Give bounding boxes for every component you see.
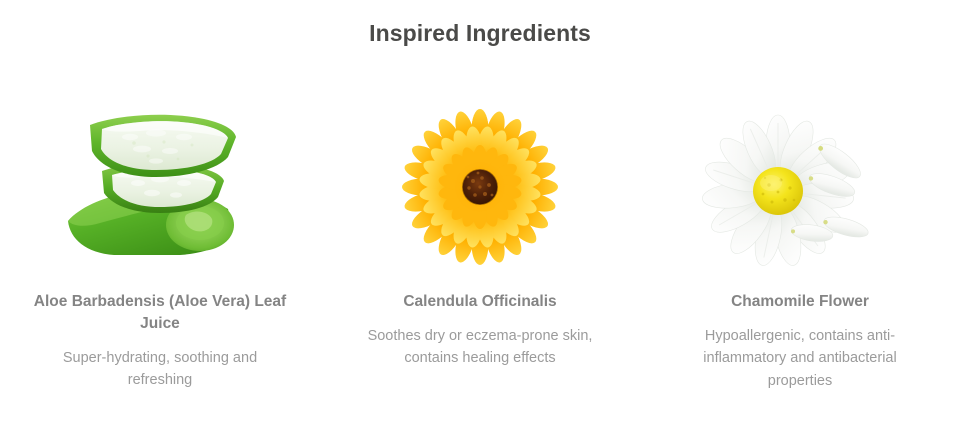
ingredient-title: Aloe Barbadensis (Aloe Vera) Leaf Juice (28, 291, 293, 335)
ingredient-title: Calendula Officinalis (403, 291, 556, 313)
ingredient-description: Hypoallergenic, contains anti-inflammato… (680, 325, 920, 392)
calendula-flower-image (320, 105, 640, 273)
ingredient-description: Super-hydrating, soothing and refreshing (38, 347, 283, 392)
ingredient-card-aloe: Aloe Barbadensis (Aloe Vera) Leaf Juice … (0, 105, 320, 392)
ingredient-card-chamomile: Chamomile Flower Hypoallergenic, contain… (640, 105, 960, 392)
ingredients-columns: Aloe Barbadensis (Aloe Vera) Leaf Juice … (0, 105, 960, 392)
aloe-vera-slices-image (0, 105, 320, 273)
ingredient-description: Soothes dry or eczema-prone skin, contai… (346, 325, 614, 370)
inspired-ingredients-section: Inspired Ingredients (0, 0, 960, 435)
ingredient-card-calendula: Calendula Officinalis Soothes dry or ecz… (320, 105, 640, 370)
page-title: Inspired Ingredients (0, 20, 960, 47)
chamomile-flower-image (640, 105, 960, 273)
ingredient-title: Chamomile Flower (731, 291, 869, 313)
